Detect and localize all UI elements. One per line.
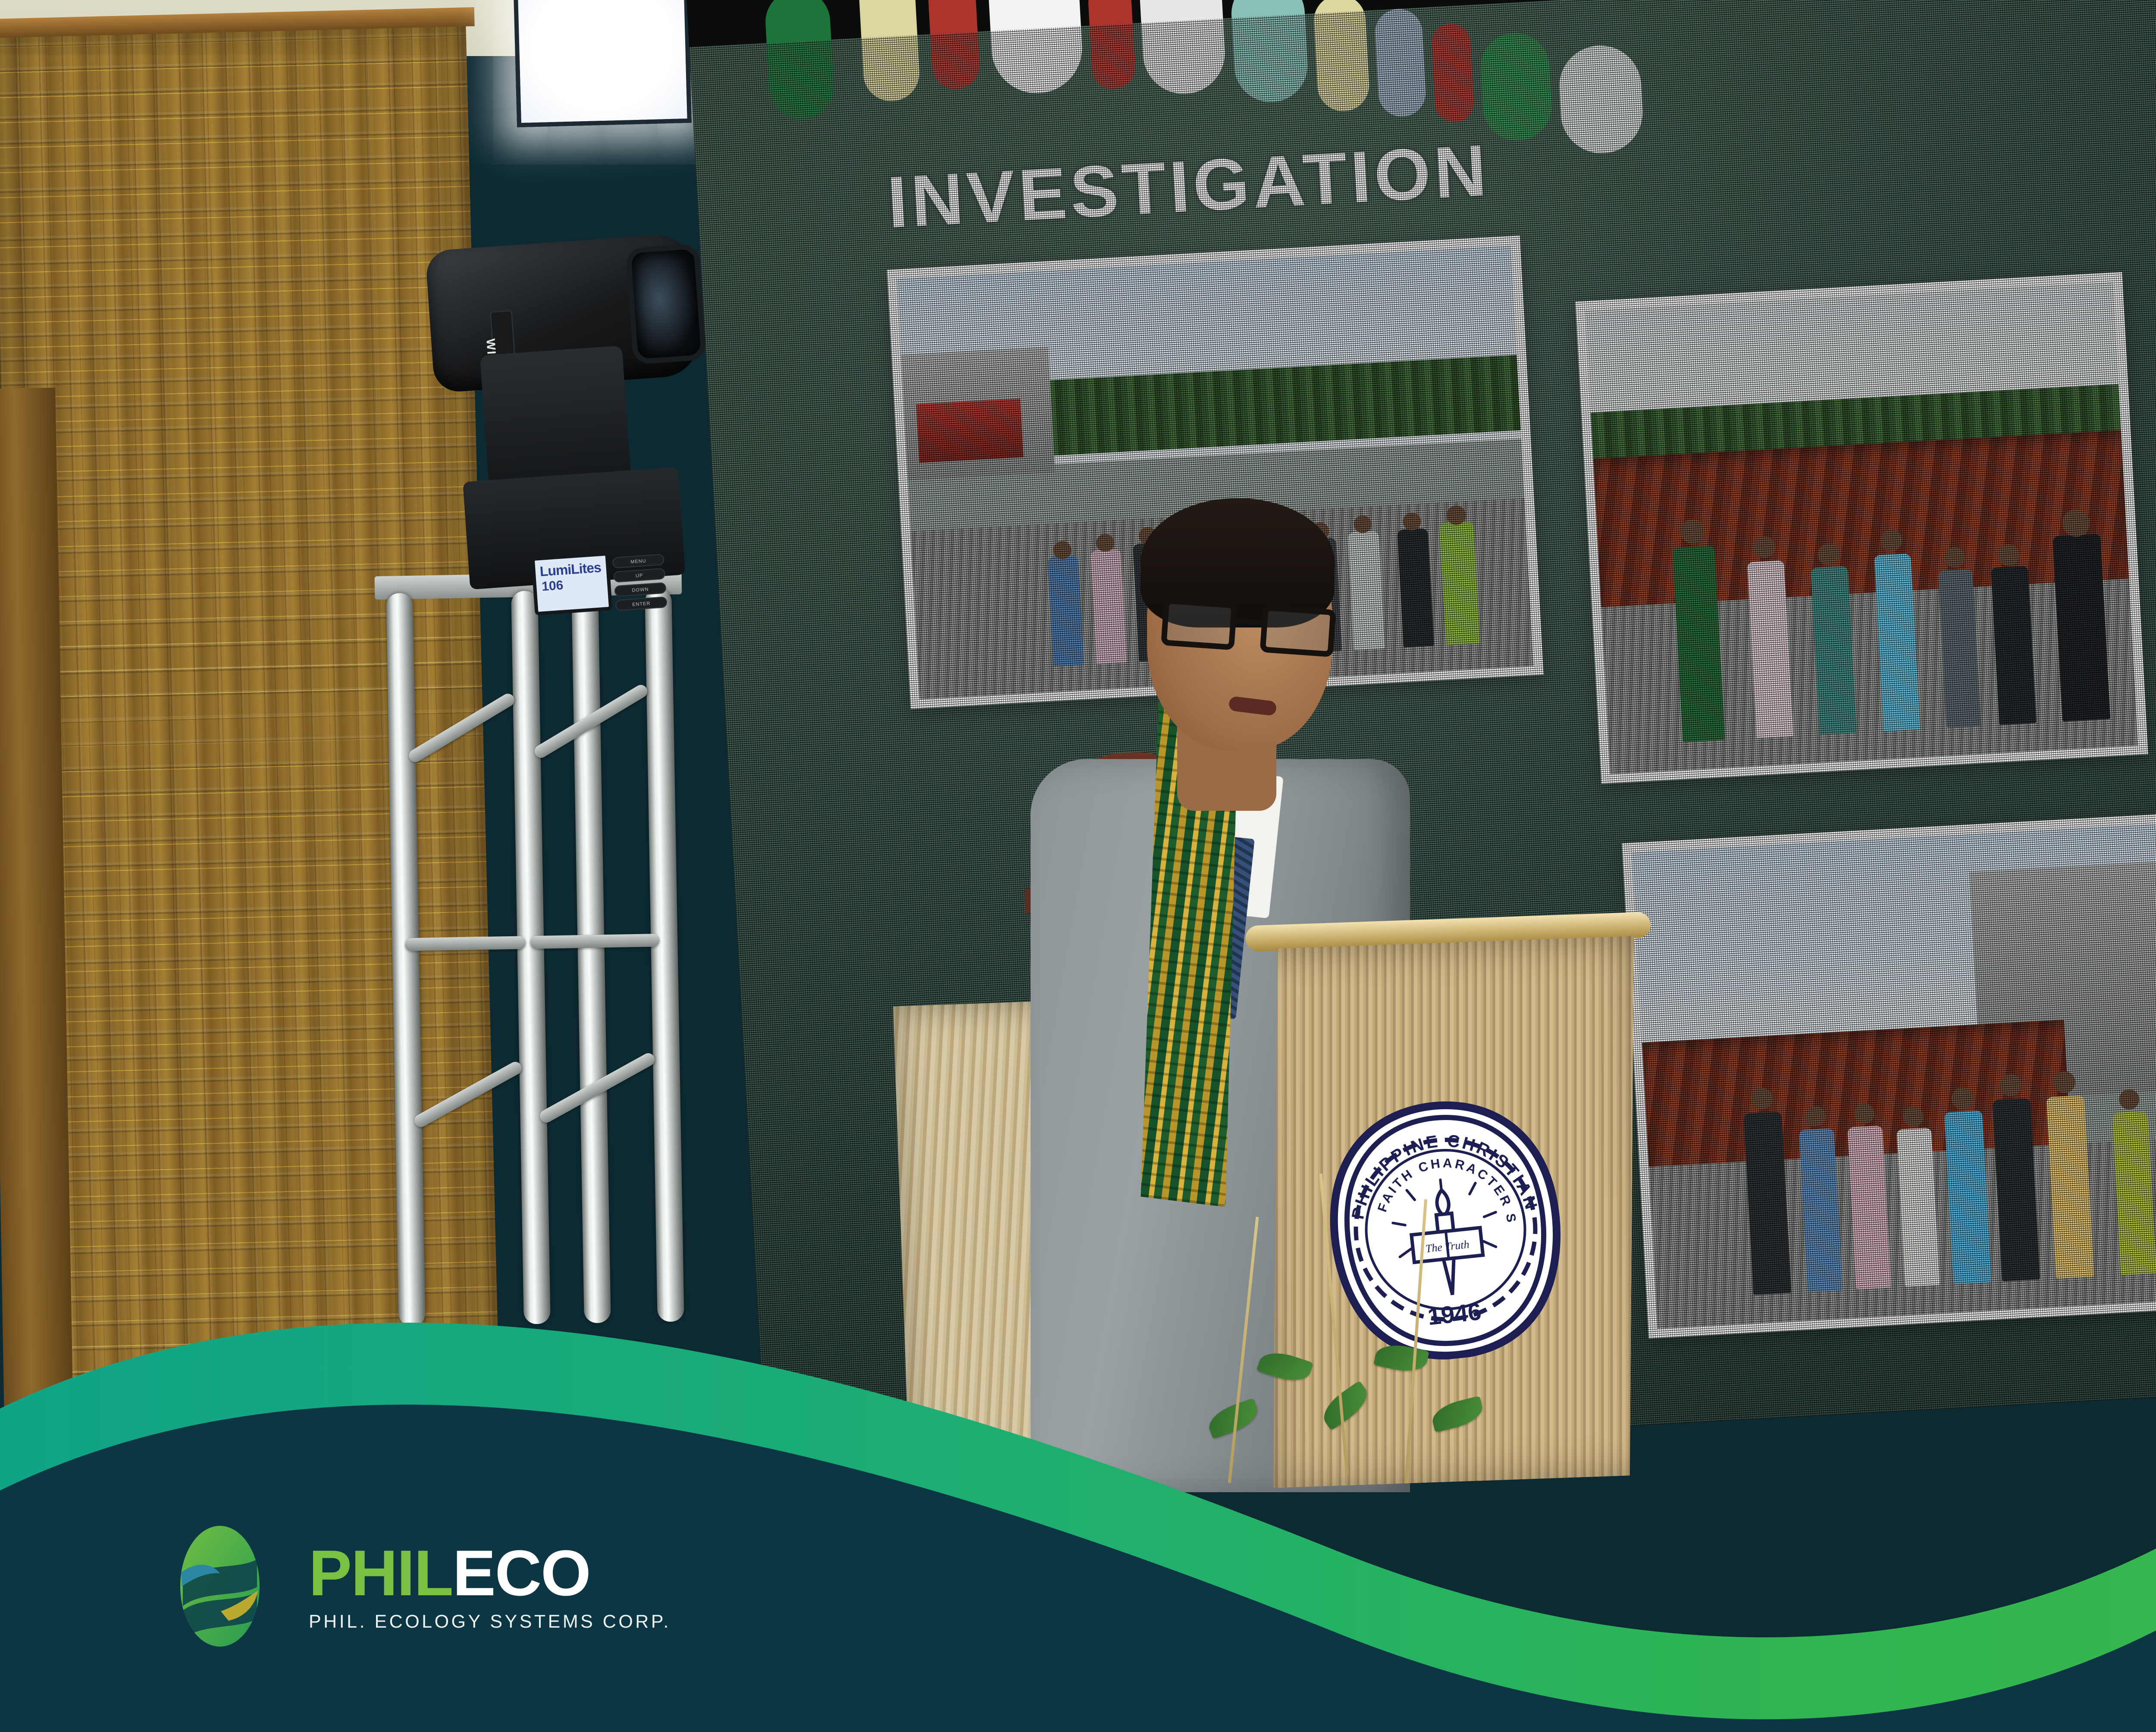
photo-person	[2053, 534, 2110, 722]
slide-accent-pill	[764, 0, 835, 121]
brand-name-primary: PHIL	[309, 1537, 453, 1609]
photo-person-safety-vest	[1440, 521, 1480, 645]
phileco-logo-text: PHILECO PHIL. ECOLOGY SYSTEMS CORP.	[309, 1541, 671, 1632]
truss-brace	[407, 691, 517, 765]
phileco-logo: PHILECO PHIL. ECOLOGY SYSTEMS CORP.	[155, 1522, 671, 1651]
slide-accent-pill	[1479, 31, 1553, 142]
slide-accent-pill	[1374, 8, 1427, 118]
brand-wave-svg	[0, 1223, 2156, 1732]
light-control-display[interactable]: LumiLites 106	[531, 552, 613, 615]
slide-photo	[1585, 282, 2138, 774]
slide-accent-pill	[858, 0, 921, 103]
slide-accent-pill	[1557, 44, 1645, 156]
up-button[interactable]: UP	[613, 568, 666, 583]
slide-accent-pill	[927, 0, 981, 90]
phileco-logo-mark	[155, 1522, 285, 1651]
eyeglass-bridge	[1236, 618, 1263, 625]
truss-brace	[412, 1060, 524, 1130]
light-control-buttons[interactable]: MENU UP DOWN ENTER	[612, 554, 668, 613]
truss-tube	[645, 588, 684, 1322]
slide-accent-pill	[1431, 22, 1475, 124]
truss-tube	[571, 590, 611, 1323]
slide-accent-pill	[1313, 0, 1370, 113]
light-lens	[625, 243, 706, 364]
lighting-truss	[382, 588, 688, 1327]
truss-brace	[530, 934, 659, 949]
eyeglass-lens	[1161, 598, 1237, 650]
phileco-wordmark: PHILECO	[309, 1541, 671, 1605]
truss-tube	[511, 591, 551, 1324]
brand-wave-footer: PHILECO PHIL. ECOLOGY SYSTEMS CORP.	[0, 1223, 2156, 1732]
screenshot-root: INVESTIGATION EAR	[0, 0, 2156, 1732]
window-light-panel	[514, 0, 692, 127]
eyeglass-lens	[1260, 605, 1336, 657]
slide-photo-card	[1575, 272, 2148, 784]
photo-truck	[916, 398, 1023, 463]
down-button[interactable]: DOWN	[614, 582, 667, 597]
slide-accent-pill	[1087, 0, 1136, 90]
brand-tagline: PHIL. ECOLOGY SYSTEMS CORP.	[309, 1611, 671, 1632]
enter-button[interactable]: ENTER	[615, 596, 668, 611]
brand-name-secondary: ECO	[453, 1537, 590, 1609]
truss-brace	[405, 936, 526, 951]
phileco-leaf-icon	[155, 1522, 285, 1651]
moving-head-light: WIDE BEAM 280	[421, 232, 718, 562]
